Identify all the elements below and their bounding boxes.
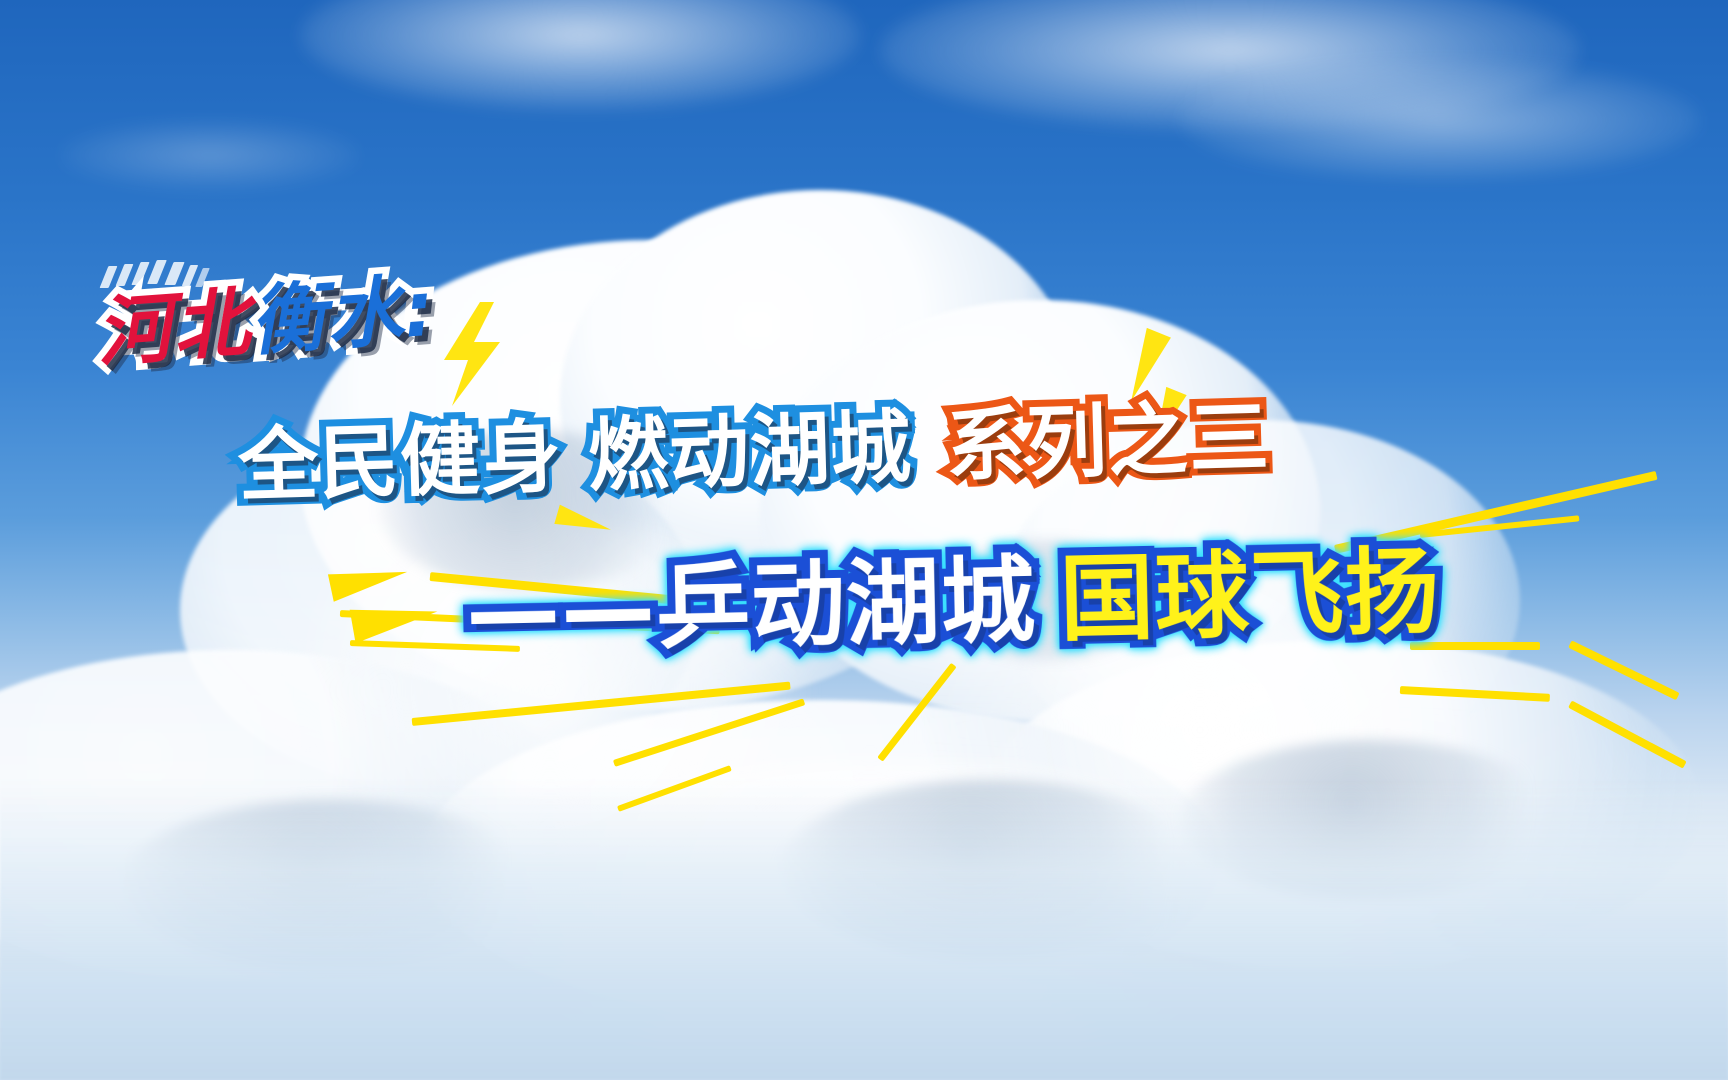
title-line2-series: 系列之三 bbox=[945, 398, 1271, 487]
title-line3-subtitle: ——乒动湖城 bbox=[465, 554, 1037, 660]
title-text-block: 河北衡水: 全民健身燃动湖城系列之三 ——乒动湖城国球飞扬 bbox=[0, 0, 1728, 1080]
title-line-3: ——乒动湖城国球飞扬 bbox=[465, 546, 1441, 660]
title-line1-city: 衡水: bbox=[247, 271, 437, 360]
title-line2-part-a: 全民健身 bbox=[237, 417, 563, 506]
title-line-2: 全民健身燃动湖城系列之三 bbox=[237, 398, 1271, 507]
title-line-1: 河北衡水: bbox=[94, 271, 438, 372]
title-line2-part-b: 燃动湖城 bbox=[587, 408, 913, 497]
title-line1-region: 河北 bbox=[94, 284, 253, 371]
title-line3-highlight: 国球飞扬 bbox=[1059, 546, 1441, 648]
title-card-canvas: 河北衡水: 全民健身燃动湖城系列之三 ——乒动湖城国球飞扬 bbox=[0, 0, 1728, 1080]
